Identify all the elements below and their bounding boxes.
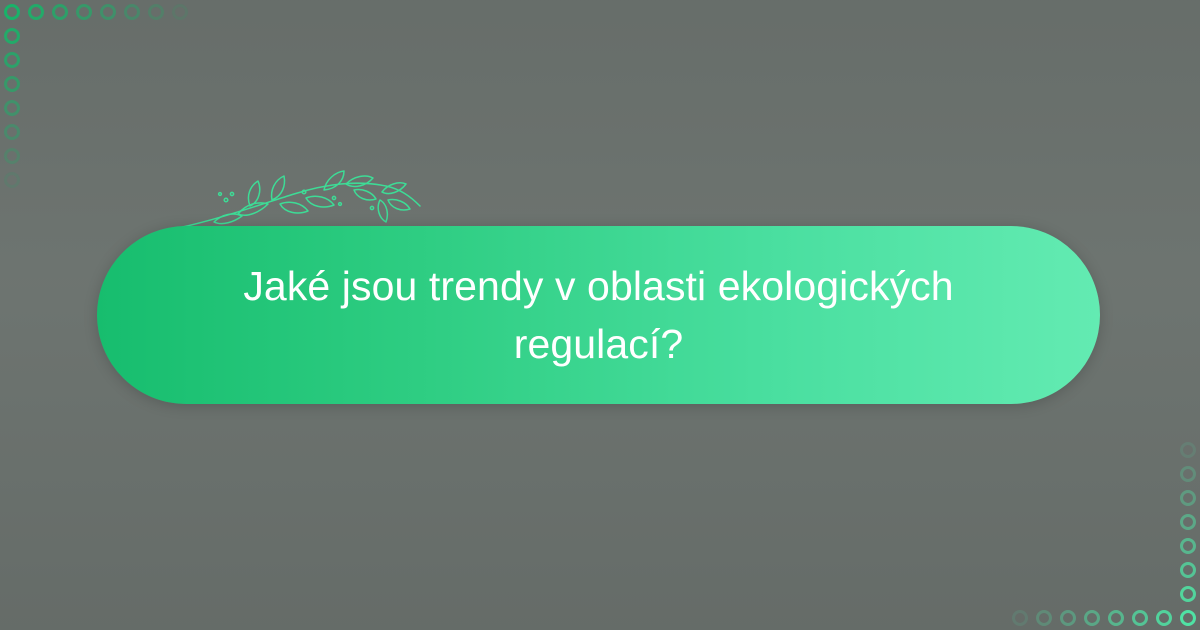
decorative-ring — [4, 52, 20, 68]
decorative-ring — [100, 4, 116, 20]
decorative-ring — [1180, 610, 1196, 626]
decorative-ring — [124, 4, 140, 20]
decorative-ring — [1180, 442, 1196, 458]
dot-grid-bottom-right — [1008, 438, 1200, 630]
decorative-ring — [4, 100, 20, 116]
decorative-ring — [1036, 610, 1052, 626]
decorative-ring — [4, 124, 20, 140]
headline-text: Jaké jsou trendy v oblasti ekologických … — [180, 257, 1018, 373]
decorative-ring — [172, 4, 188, 20]
decorative-ring — [1012, 610, 1028, 626]
social-card: Jaké jsou trendy v oblasti ekologických … — [0, 0, 1200, 630]
dot-grid-top-left — [0, 0, 192, 192]
decorative-ring — [148, 4, 164, 20]
decorative-ring — [1156, 610, 1172, 626]
decorative-ring — [1180, 538, 1196, 554]
decorative-ring — [1108, 610, 1124, 626]
decorative-ring — [4, 172, 20, 188]
decorative-ring — [1180, 466, 1196, 482]
decorative-ring — [1132, 610, 1148, 626]
decorative-ring — [1180, 514, 1196, 530]
decorative-ring — [52, 4, 68, 20]
decorative-ring — [1084, 610, 1100, 626]
decorative-ring — [1180, 562, 1196, 578]
headline-banner: Jaké jsou trendy v oblasti ekologických … — [97, 226, 1100, 404]
decorative-ring — [1180, 490, 1196, 506]
decorative-ring — [4, 4, 20, 20]
decorative-ring — [76, 4, 92, 20]
decorative-ring — [1180, 586, 1196, 602]
decorative-ring — [1060, 610, 1076, 626]
decorative-ring — [28, 4, 44, 20]
decorative-ring — [4, 148, 20, 164]
decorative-ring — [4, 28, 20, 44]
decorative-ring — [4, 76, 20, 92]
